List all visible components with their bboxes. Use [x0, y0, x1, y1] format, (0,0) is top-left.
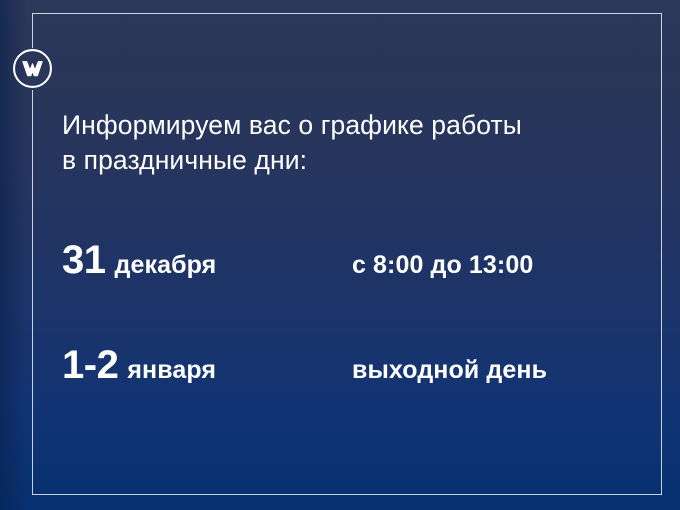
poster-content: Информируем вас о графике работы в празд… [62, 0, 642, 510]
headline-line-1: Информируем вас о графике работы [62, 108, 632, 143]
frame-border-right [661, 13, 662, 495]
schedule-row: 31 декабря с 8:00 до 13:00 [62, 240, 632, 280]
schedule-hours: с 8:00 до 13:00 [352, 253, 533, 278]
schedule-date-number: 31 [62, 240, 106, 280]
frame-border-left-upper [32, 13, 33, 48]
schedule-date-number: 1-2 [62, 345, 118, 385]
holiday-hours-poster: Информируем вас о графике работы в празд… [0, 0, 680, 510]
schedule-date-month: декабря [115, 253, 217, 278]
frame-border-left-lower [32, 90, 33, 495]
headline-line-2: в праздничные дни: [62, 143, 632, 178]
schedule-date-cell: 1-2 января [62, 345, 352, 385]
page-title: Информируем вас о графике работы в празд… [62, 108, 632, 178]
schedule-row: 1-2 января выходной день [62, 345, 632, 385]
schedule-date-cell: 31 декабря [62, 240, 352, 280]
volkswagen-logo-icon [12, 48, 53, 89]
schedule-date-month: января [127, 358, 216, 383]
schedule-hours: выходной день [352, 358, 547, 383]
